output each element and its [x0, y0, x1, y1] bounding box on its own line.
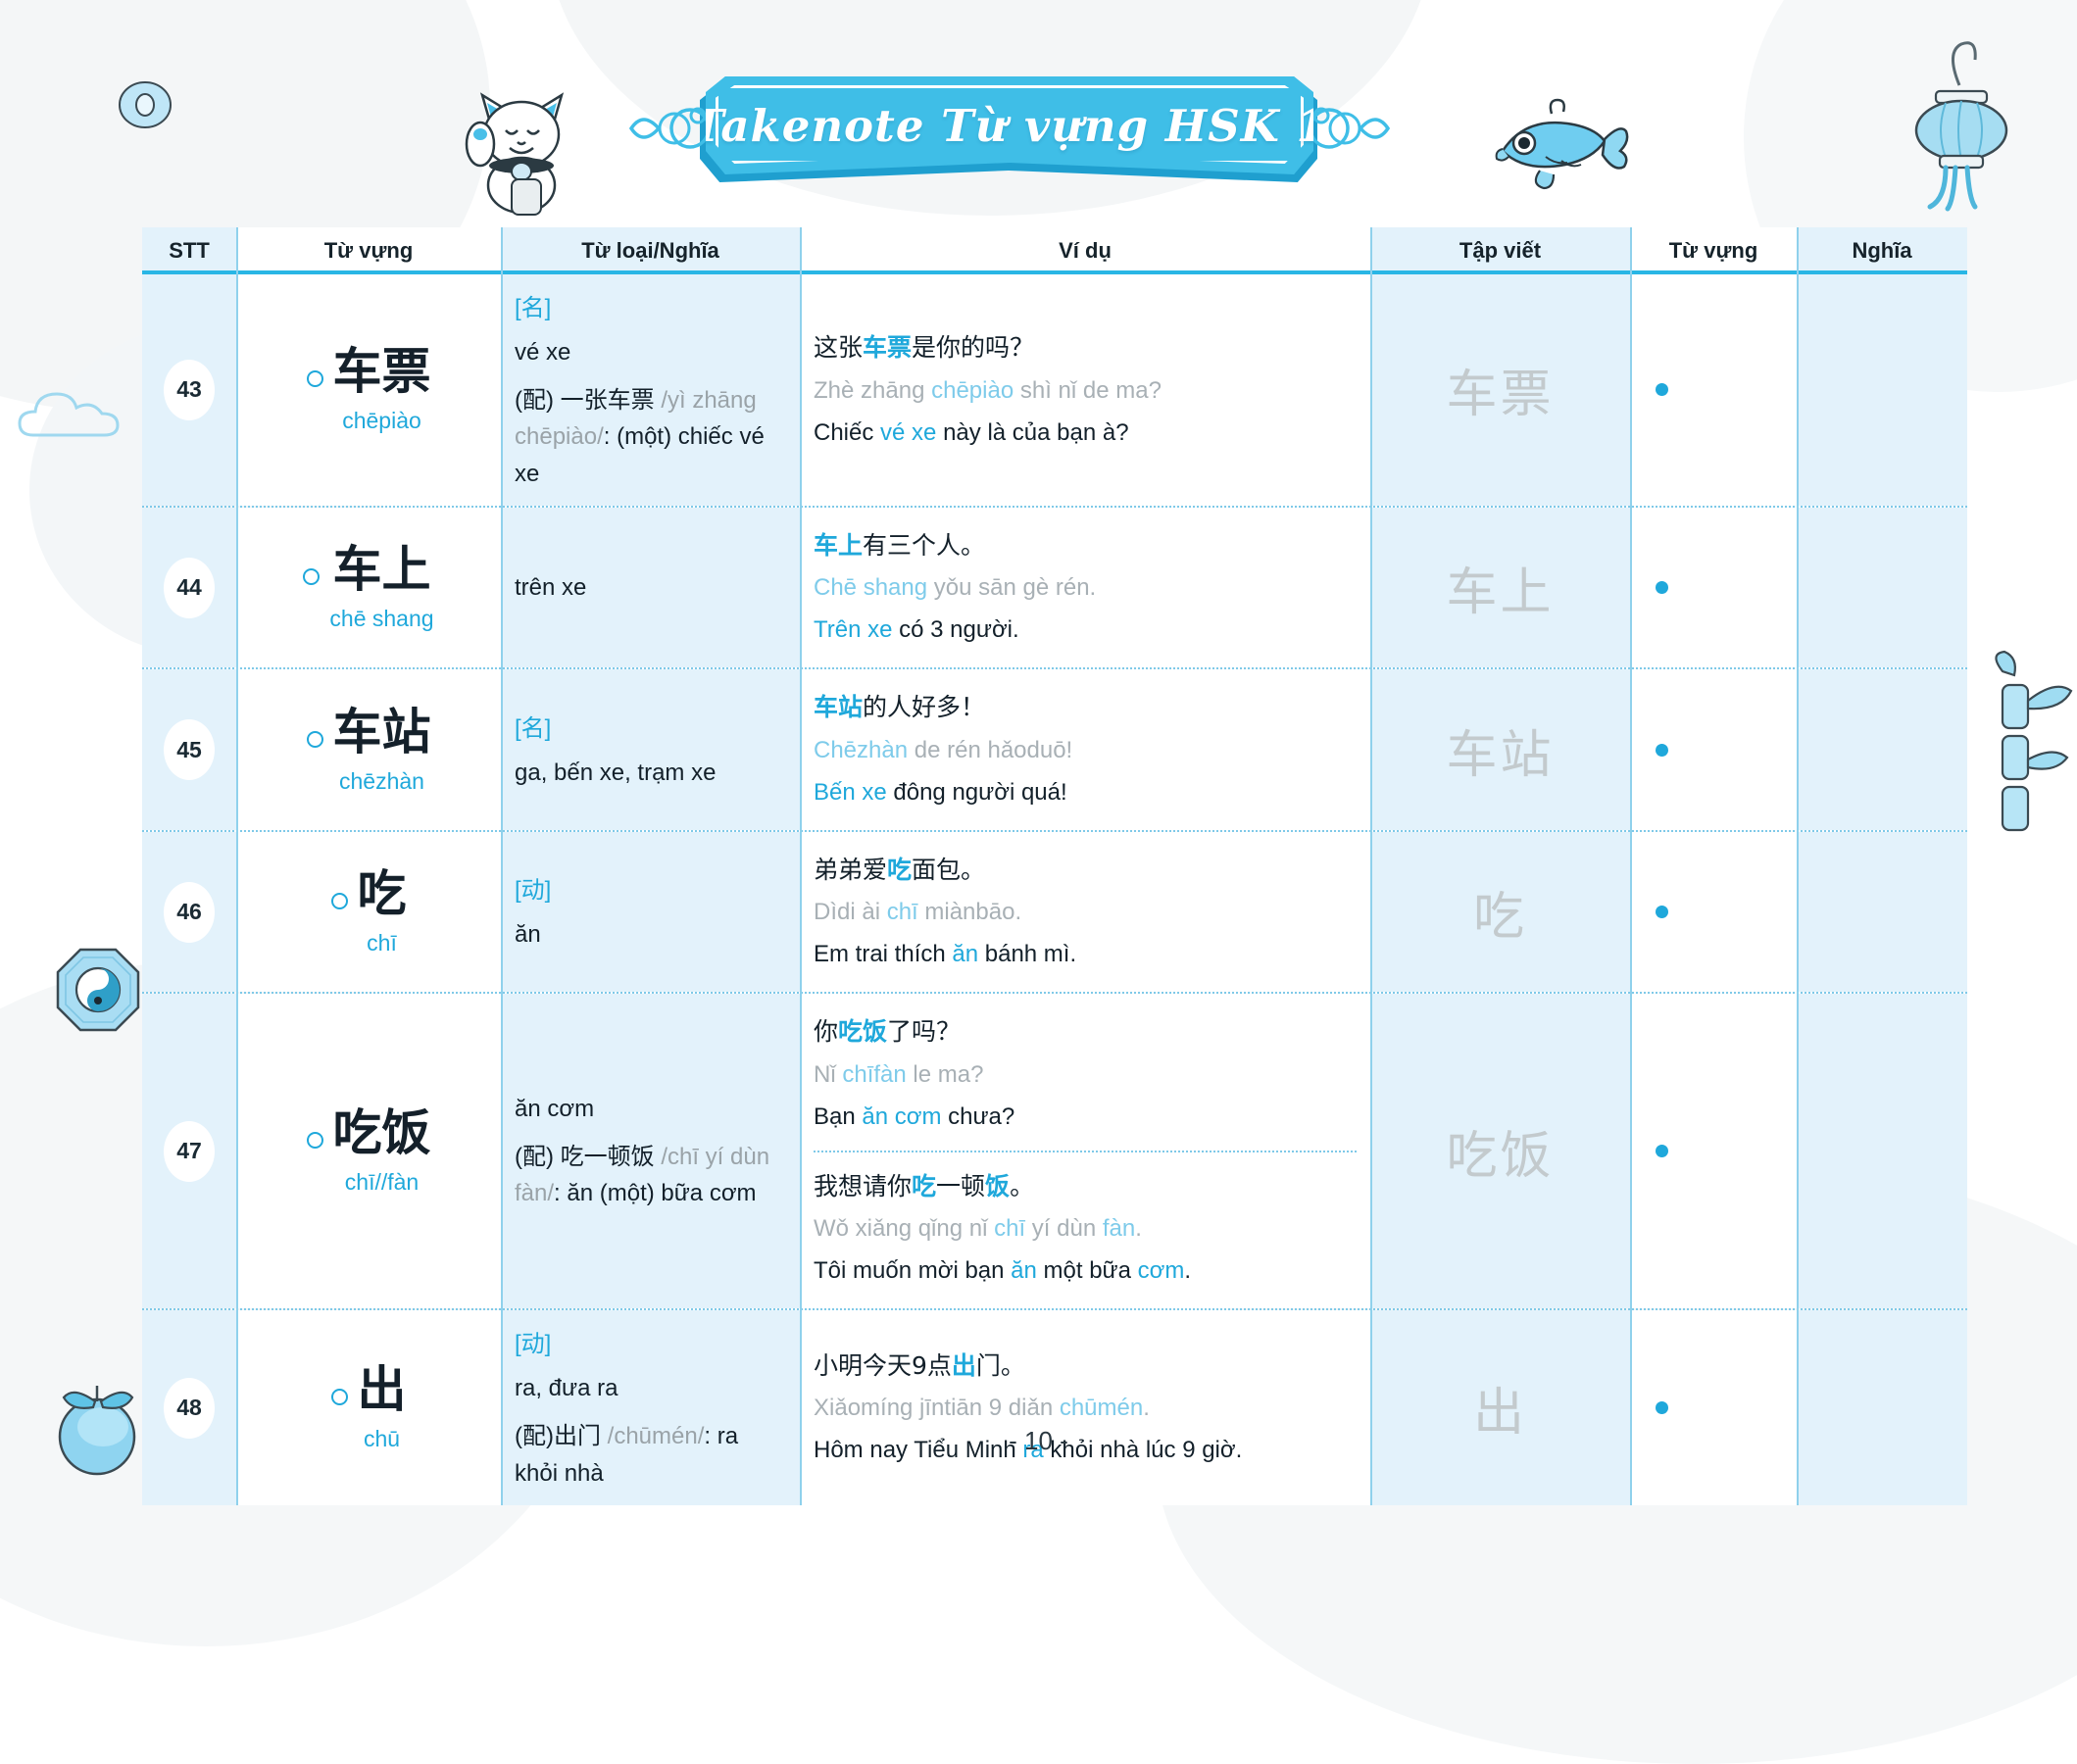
bullet-dot-icon: [1656, 1401, 1668, 1414]
meaning-line: ga, bến xe, trạm xe: [515, 755, 786, 791]
example-chinese: 弟弟爱吃面包。: [814, 852, 1357, 889]
vocab-pinyin: chēzhàn: [339, 768, 424, 795]
cell-tu-vung-blank[interactable]: [1630, 832, 1797, 993]
cell-tap-viet[interactable]: 车站: [1370, 669, 1630, 830]
example-block: 我想请你吃一顿饭。Wǒ xiǎng qǐng nǐ chī yí dùn fàn…: [814, 1151, 1357, 1296]
checkbox-circle-icon[interactable]: [331, 893, 348, 909]
table-row: 45车站chēzhàn[名]ga, bến xe, trạm xe车站的人好多！…: [142, 669, 1967, 832]
column-divider: [501, 227, 503, 1505]
example-vietnamese: Trên xe có 3 người.: [814, 612, 1357, 648]
column-header-stt: STT: [142, 227, 236, 274]
cell-tu-vung-blank[interactable]: [1630, 508, 1797, 668]
cell-tu-loai-nghia: ăn cơm(配) 吃一顿饭 /chī yí dùn fàn/: ăn (một…: [501, 994, 800, 1308]
tracing-hanzi: 吃: [1473, 875, 1527, 949]
bullet-dot-icon: [1656, 906, 1668, 918]
cell-stt: 44: [142, 508, 236, 668]
row-number-badge: 45: [164, 719, 215, 780]
example-pinyin: Dìdi ài chī miànbāo.: [814, 895, 1357, 930]
bullet-dot-icon: [1656, 581, 1668, 594]
table-header-row: STT Từ vựng Từ loại/Nghĩa Ví dụ Tập viết…: [142, 227, 1967, 274]
cell-vi-du: 这张车票是你的吗？Zhè zhāng chēpiào shì nǐ de ma?…: [800, 274, 1370, 506]
example-pinyin: Chēzhàn de rén hǎoduō!: [814, 733, 1357, 768]
cell-tu-loai-nghia: [名]vé xe(配) 一张车票 /yì zhāng chēpiào/: (mộ…: [501, 274, 800, 506]
cell-tap-viet[interactable]: 车上: [1370, 508, 1630, 668]
part-of-speech-tag: [名]: [515, 288, 786, 322]
part-of-speech-tag: [名]: [515, 709, 786, 743]
example-pinyin: Zhè zhāng chēpiào shì nǐ de ma?: [814, 373, 1357, 409]
cell-tu-vung: 车站chēzhàn: [236, 669, 501, 830]
cell-tu-vung-blank[interactable]: [1630, 994, 1797, 1308]
bullet-dot-icon: [1656, 383, 1668, 396]
cell-tu-vung: 车上chē shang: [236, 508, 501, 668]
cell-tu-vung: 车票chēpiào: [236, 274, 501, 506]
meaning-line: ăn cơm: [515, 1091, 786, 1127]
example-pinyin: Wǒ xiǎng qǐng nǐ chī yí dùn fàn.: [814, 1211, 1357, 1247]
column-header-vi-du: Ví dụ: [800, 227, 1370, 274]
cell-tap-viet[interactable]: 车票: [1370, 274, 1630, 506]
vocab-hanzi: 车上: [332, 543, 430, 596]
part-of-speech-tag: [动]: [515, 1324, 786, 1358]
cell-nghia-blank[interactable]: [1797, 994, 1967, 1308]
table-row: 48出chū[动]ra, đưa ra(配)出门 /chūmén/: ra kh…: [142, 1310, 1967, 1505]
row-number-badge: 43: [164, 360, 215, 420]
example-chinese: 你吃饭了吗？: [814, 1013, 1357, 1051]
cell-vi-du: 车上有三个人。Chē shang yǒu sān gè rén.Trên xe …: [800, 508, 1370, 668]
cell-tap-viet[interactable]: 吃: [1370, 832, 1630, 993]
cell-nghia-blank[interactable]: [1797, 274, 1967, 506]
vocabulary-table: STT Từ vựng Từ loại/Nghĩa Ví dụ Tập viết…: [142, 227, 1967, 1505]
meaning-line: vé xe: [515, 334, 786, 370]
example-chinese: 小明今天9点出门。: [814, 1347, 1357, 1385]
example-block: 车上有三个人。Chē shang yǒu sān gè rén.Trên xe …: [814, 521, 1357, 655]
example-vietnamese: Chiếc vé xe này là của bạn à?: [814, 416, 1357, 451]
cell-tu-vung-blank[interactable]: [1630, 274, 1797, 506]
cell-tu-loai-nghia: trên xe: [501, 508, 800, 668]
cell-tu-vung-blank[interactable]: [1630, 1310, 1797, 1505]
cell-nghia-blank[interactable]: [1797, 1310, 1967, 1505]
vocab-hanzi: 出: [358, 1363, 407, 1416]
cell-stt: 47: [142, 994, 236, 1308]
tracing-hanzi: 车票: [1446, 353, 1554, 426]
column-divider: [1630, 227, 1632, 1505]
column-header-tu-loai: Từ loại/Nghĩa: [501, 227, 800, 274]
vocab-pinyin: chī: [367, 930, 397, 956]
cell-vi-du: 车站的人好多！Chēzhàn de rén hǎoduō!Bến xe đông…: [800, 669, 1370, 830]
cell-tu-vung-blank[interactable]: [1630, 669, 1797, 830]
coin-icon: [116, 76, 174, 133]
vocab-pinyin: chēpiào: [342, 408, 421, 434]
table-row: 47吃饭chī//fànăn cơm(配) 吃一顿饭 /chī yí dùn f…: [142, 994, 1967, 1310]
table-row: 44车上chē shangtrên xe车上有三个人。Chē shang yǒu…: [142, 508, 1967, 670]
tracing-hanzi: 车站: [1446, 713, 1554, 787]
column-divider: [1797, 227, 1799, 1505]
page-title: Takenote Từ vựng HSK 1: [691, 100, 1328, 152]
cell-tu-vung: 吃chī: [236, 832, 501, 993]
meaning-line: (配) 吃一顿饭 /chī yí dùn fàn/: ăn (một) bữa …: [515, 1139, 786, 1211]
column-header-tu-vung: Từ vựng: [236, 227, 501, 274]
ribbon-ornament-left: [629, 100, 717, 157]
example-block: 弟弟爱吃面包。Dìdi ài chī miànbāo.Em trai thích…: [814, 846, 1357, 979]
vocab-hanzi: 车票: [333, 345, 431, 398]
koi-fish-ornament-icon: [1475, 96, 1632, 199]
part-of-speech-tag: [动]: [515, 870, 786, 905]
column-header-tu-vung-2: Từ vựng: [1630, 227, 1797, 274]
cell-tu-loai-nghia: [动]ăn: [501, 832, 800, 993]
maneki-neko-cat-icon: [461, 83, 583, 216]
example-vietnamese: Bến xe đông người quá!: [814, 775, 1357, 810]
vocab-pinyin: chī//fàn: [345, 1169, 419, 1196]
cell-stt: 43: [142, 274, 236, 506]
checkbox-circle-icon[interactable]: [307, 731, 323, 748]
meaning-line: ra, đưa ra: [515, 1370, 786, 1406]
column-divider: [1370, 227, 1372, 1505]
tracing-hanzi: 车上: [1446, 551, 1554, 624]
cell-tu-vung: 出chū: [236, 1310, 501, 1505]
vocab-pinyin: chē shang: [329, 606, 433, 632]
cell-tap-viet[interactable]: 吃饭: [1370, 994, 1630, 1308]
cell-tap-viet[interactable]: 出: [1370, 1310, 1630, 1505]
cell-stt: 46: [142, 832, 236, 993]
cell-stt: 45: [142, 669, 236, 830]
cell-tu-loai-nghia: [动]ra, đưa ra(配)出门 /chūmén/: ra khỏi nhà: [501, 1310, 800, 1505]
cell-nghia-blank[interactable]: [1797, 669, 1967, 830]
table-row: 43车票chēpiào[名]vé xe(配) 一张车票 /yì zhāng ch…: [142, 274, 1967, 508]
example-block: 你吃饭了吗？Nǐ chīfàn le ma?Bạn ăn cơm chưa?: [814, 1007, 1357, 1141]
cloud-icon: [18, 374, 135, 453]
bullet-dot-icon: [1656, 1145, 1668, 1157]
checkbox-circle-icon[interactable]: [303, 568, 320, 585]
column-divider: [800, 227, 802, 1505]
column-header-nghia: Nghĩa: [1797, 227, 1967, 274]
bagua-yinyang-icon: [54, 946, 142, 1034]
bamboo-icon: [1975, 652, 2077, 848]
row-number-badge: 46: [164, 882, 215, 943]
cell-vi-du: 你吃饭了吗？Nǐ chīfàn le ma?Bạn ăn cơm chưa?我想…: [800, 994, 1370, 1308]
example-pinyin: Nǐ chīfàn le ma?: [814, 1057, 1357, 1093]
cell-vi-du: 弟弟爱吃面包。Dìdi ài chī miànbāo.Em trai thích…: [800, 832, 1370, 993]
example-chinese: 车上有三个人。: [814, 527, 1357, 564]
tracing-hanzi: 吃饭: [1446, 1114, 1554, 1188]
cell-tu-loai-nghia: [名]ga, bến xe, trạm xe: [501, 669, 800, 830]
row-number-badge: 47: [164, 1121, 215, 1182]
example-chinese: 这张车票是你的吗？: [814, 329, 1357, 367]
checkbox-circle-icon[interactable]: [331, 1389, 348, 1405]
checkbox-circle-icon[interactable]: [307, 370, 323, 387]
example-pinyin: Chē shang yǒu sān gè rén.: [814, 570, 1357, 606]
example-vietnamese: Em trai thích ăn bánh mì.: [814, 937, 1357, 972]
row-number-badge: 44: [164, 558, 215, 618]
meaning-line: trên xe: [515, 569, 786, 606]
vocab-hanzi: 吃饭: [333, 1106, 431, 1159]
cell-nghia-blank[interactable]: [1797, 832, 1967, 993]
bullet-dot-icon: [1656, 744, 1668, 757]
meaning-line: (配) 一张车票 /yì zhāng chēpiào/: (một) chiếc…: [515, 382, 786, 492]
ribbon-ornament-right: [1302, 100, 1390, 157]
cell-stt: 48: [142, 1310, 236, 1505]
example-block: 这张车票是你的吗？Zhè zhāng chēpiào shì nǐ de ma?…: [814, 323, 1357, 457]
banner-plate: Takenote Từ vựng HSK 1: [706, 76, 1313, 174]
meaning-line: ăn: [515, 916, 786, 953]
page-number: - 10 -: [0, 1426, 2077, 1456]
page-title-banner: Takenote Từ vựng HSK 1: [647, 76, 1372, 178]
cell-vi-du: 小明今天9点出门。Xiǎomíng jīntiān 9 diǎn chūmén.…: [800, 1310, 1370, 1505]
vocab-hanzi: 车站: [333, 706, 431, 759]
cell-tu-vung: 吃饭chī//fàn: [236, 994, 501, 1308]
chinese-lantern-icon: [1916, 34, 2034, 211]
column-header-tap-viet: Tập viết: [1370, 227, 1630, 274]
example-block: 车站的人好多！Chēzhàn de rén hǎoduō!Bến xe đông…: [814, 683, 1357, 816]
example-chinese: 我想请你吃一顿饭。: [814, 1168, 1357, 1205]
checkbox-circle-icon[interactable]: [307, 1132, 323, 1149]
column-divider: [236, 227, 238, 1505]
table-row: 46吃chī[动]ăn弟弟爱吃面包。Dìdi ài chī miànbāo.Em…: [142, 832, 1967, 995]
example-vietnamese: Tôi muốn mời bạn ăn một bữa cơm.: [814, 1253, 1357, 1289]
example-chinese: 车站的人好多！: [814, 689, 1357, 726]
example-pinyin: Xiǎomíng jīntiān 9 diǎn chūmén.: [814, 1391, 1357, 1426]
example-vietnamese: Bạn ăn cơm chưa?: [814, 1100, 1357, 1135]
cell-nghia-blank[interactable]: [1797, 508, 1967, 668]
vocab-hanzi: 吃: [358, 867, 407, 920]
